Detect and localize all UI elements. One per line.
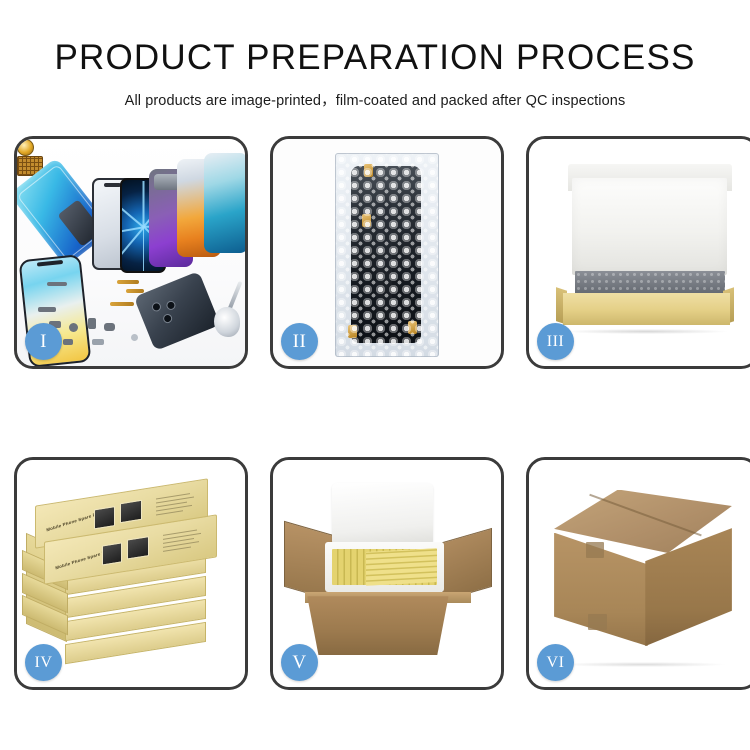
page-subtitle: All products are image-printed，film-coat… [0,89,750,110]
step-card-4[interactable]: Mobile Phone Spare Parts Mobile Phone Sp… [14,457,248,690]
connector-part-icon [63,339,73,345]
step-card-6[interactable]: VI [526,457,750,690]
flex-cable-icon [110,302,134,306]
step-card-5[interactable]: V [270,457,504,690]
step-card-3[interactable]: III [526,136,750,369]
box-shadow [565,329,727,334]
carton-flap-right-icon [442,528,492,601]
carton-tape-icon [588,614,606,630]
process-step-grid: I II [14,136,736,690]
screw-icon [131,334,138,341]
foam-lid-icon [332,483,432,547]
flex-cable-icon [117,280,139,284]
step-badge-2: II [281,323,318,360]
box-art-screen-icon [120,499,142,523]
bag-seal-icon [335,153,440,357]
screw-set-icon [92,339,104,345]
step-card-2[interactable]: II [270,136,504,369]
step-badge-1: I [25,323,62,360]
sim-tray-icon [88,318,96,329]
foam-sheet-icon [572,178,727,276]
speaker-part-icon [38,307,56,312]
step-badge-3: III [537,323,574,360]
step-badge-4: IV [25,644,62,681]
poster-root: PRODUCT PREPARATION PROCESS All products… [0,0,750,750]
page-title: PRODUCT PREPARATION PROCESS [0,38,750,78]
antenna-part-icon [47,282,67,286]
flex-cable-icon [126,289,144,293]
yellow-boxes-icon [366,548,437,586]
step-badge-5: V [281,644,318,681]
step-badge-6: VI [537,644,574,681]
box-art-screen-icon [102,543,123,566]
carton-front-icon [307,596,448,655]
kraft-box-body-icon [563,293,729,325]
carton-tape-icon [586,542,604,558]
step-card-1[interactable]: I [14,136,248,369]
phone-back-housing-icon [134,271,221,351]
taptic-part-icon [104,323,115,331]
vibration-motor-icon [17,139,34,156]
adhesive-blob-icon [214,307,240,337]
header: PRODUCT PREPARATION PROCESS All products… [0,0,750,110]
carton-shadow [561,662,725,667]
box-art-screen-icon [128,536,150,560]
box-art-screen-icon [94,506,115,529]
teal-phone-icon [204,153,245,253]
